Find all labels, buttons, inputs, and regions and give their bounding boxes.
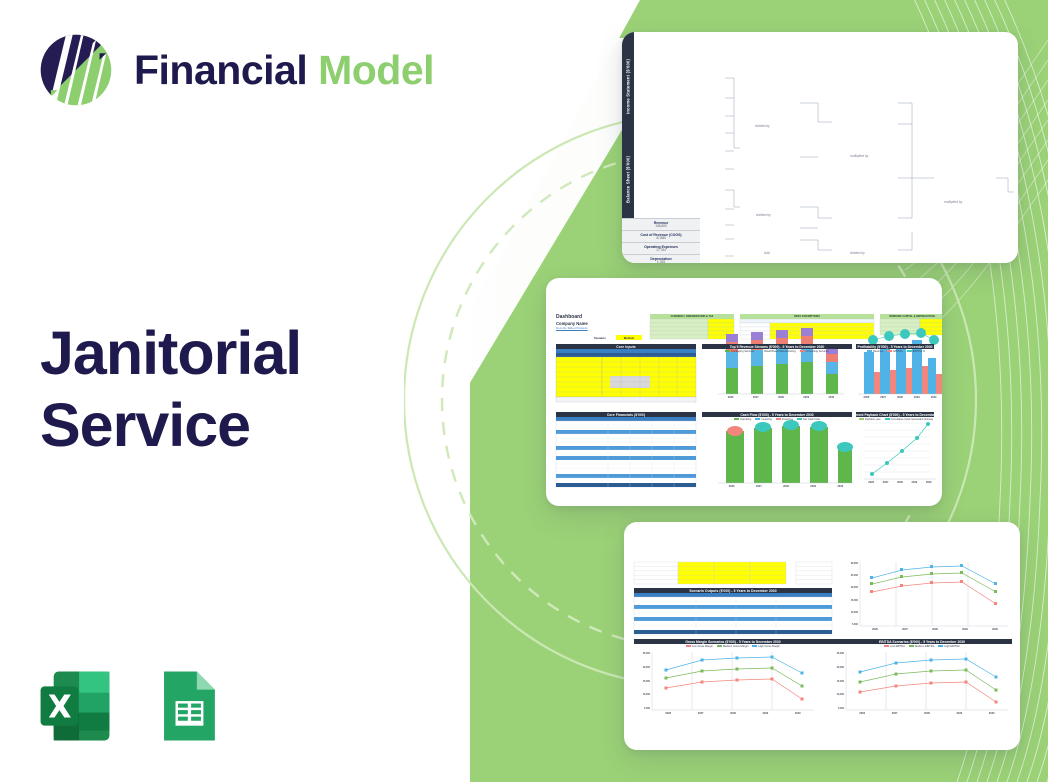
- chart-legend-cash-flow: Operating Investing Financing Net Cash F…: [702, 418, 852, 421]
- chart-title-top5-revenue: Top 5 Revenue Streams ($'000) - 5 Years …: [702, 344, 852, 349]
- chart-legend-ebitda-scenarios: Low EBITDA Medium EBITDA High EBITDA: [832, 645, 1012, 648]
- brand-logo[interactable]: Financial Model: [34, 28, 434, 112]
- hero-left-panel: Financial Model Janitorial Service: [0, 0, 470, 782]
- chart-legend-profitability: Revenue EBITDA EBITDA %: [856, 350, 936, 353]
- chart-xaxis-cash-flow: 20262027 20282029 2030: [718, 485, 854, 488]
- dupont-operator: divided by: [756, 213, 771, 217]
- dupont-operator: Add: [764, 251, 770, 255]
- chart-title-ebitda-scenarios: EBITDA Scenarios ($'000) - 5 Years to De…: [832, 639, 1012, 644]
- page-title-line2: Service: [40, 390, 301, 462]
- scenario-chart-ebitda-plot: [846, 652, 1008, 710]
- brand-word-model: Model: [318, 47, 434, 93]
- scenario-chart-revenue-plot: [860, 562, 1008, 626]
- chart-title-gross-margin-scenarios: Gross Margin Scenarios ($'000) - 5 Years…: [634, 639, 832, 644]
- scenario-analysis-screenshot[interactable]: Scenario Outputs ($'000) - 5 Years to De…: [624, 522, 1020, 750]
- brand-wordmark: Financial Model: [134, 50, 434, 91]
- chart-xaxis-top5-revenue: 20262027 20282029 2030: [718, 396, 844, 399]
- chart-yaxis-revenue-scenarios: 30,00025,000 20,00015,000 10,0005,000: [838, 562, 858, 626]
- chart-title-profitability: Profitability ($'000) - 5 Years to Decem…: [856, 344, 934, 349]
- chart-yaxis-gross-margin-scenarios: 25,00020,000 15,00010,000 5,000: [632, 652, 650, 710]
- financial-dashboard-screenshot[interactable]: Dashboard Company Name Go to the Table o…: [546, 278, 942, 506]
- dupont-operator: multiplied by: [850, 154, 868, 158]
- chart-xaxis-profitability: 20262027 20282029 2030: [858, 396, 942, 399]
- table-title-core-financials: Core Financials ($'000): [556, 412, 696, 417]
- chart-xaxis-ebitda-scenarios: 20262027 20282029 2030: [846, 712, 1008, 715]
- dupont-operator: divided by: [755, 124, 770, 128]
- dupont-connectors: [622, 32, 1018, 263]
- financial-model-circle-logo: [34, 28, 118, 112]
- dupont-operator: multiplied by: [944, 200, 962, 204]
- table-title-core-inputs: Core Inputs: [556, 344, 696, 349]
- page-title-line1: Janitorial: [40, 319, 301, 387]
- table-title-scenario-outputs: Scenario Outputs ($'000) - 5 Years to De…: [634, 588, 832, 593]
- chart-payback-plot: [864, 422, 936, 479]
- app-format-icons: [34, 665, 228, 747]
- brand-word-financial: Financial: [134, 47, 318, 93]
- microsoft-excel-icon[interactable]: [34, 665, 116, 747]
- scenario-grid-detail: [624, 522, 1020, 750]
- chart-xaxis-investment-payback: 20262027 20282029 2030: [864, 481, 936, 484]
- dupont-operator: divided by: [850, 251, 865, 255]
- chart-xaxis-gross-margin-scenarios: 20262027 20282029 2030: [652, 712, 814, 715]
- page-title: Janitorial Service: [40, 318, 301, 462]
- chart-legend-investment-payback: Payback year Cumulative Cash Generated (…: [856, 418, 936, 421]
- chart-xaxis-revenue-scenarios: 20262027 20282029 2030: [860, 628, 1010, 631]
- chart-yaxis-ebitda-scenarios: 25,00020,000 15,00010,000 5,000: [826, 652, 844, 710]
- dupont-group-income-statement: Income Statement ($'000): [622, 32, 634, 140]
- chart-legend-gross-margin-scenarios: Low Gross Margin Medium Gross Margin Hig…: [634, 645, 832, 648]
- chart-cashflow-plot: [718, 420, 854, 483]
- chart-legend-top5-revenue: Packaging Services Retail Brand Manufact…: [702, 350, 852, 353]
- scenario-chart-gross-margin-plot: [652, 652, 814, 710]
- dashboard-grid-detail: [546, 278, 942, 506]
- dupont-group-balance-sheet: Balance Sheet ($'000): [622, 140, 634, 218]
- dupont-ratio-tree-screenshot[interactable]: Income Statement ($'000) Balance Sheet (…: [622, 32, 1018, 263]
- chart-title-investment-payback: Investment Payback Chart ($'000) - 5 Yea…: [856, 412, 934, 417]
- chart-profitability-plot: [858, 328, 942, 394]
- google-sheets-icon[interactable]: [146, 665, 228, 747]
- chart-title-cash-flow: Cash Flow ($'000) - 5 Years to December …: [702, 412, 852, 417]
